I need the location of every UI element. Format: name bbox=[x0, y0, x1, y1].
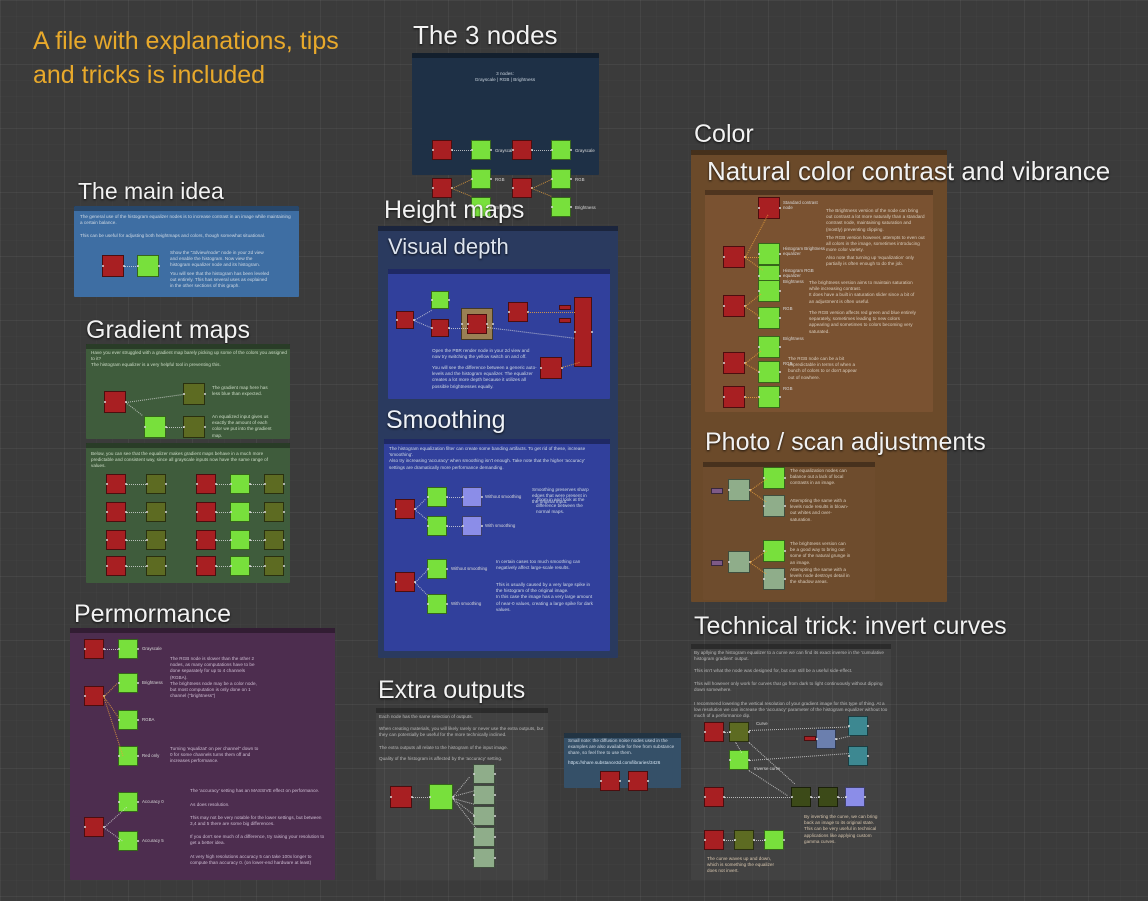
node-eq-2[interactable] bbox=[764, 830, 784, 850]
node-grayscale[interactable] bbox=[471, 140, 491, 160]
frame-bar bbox=[412, 53, 599, 58]
node-brightness[interactable] bbox=[118, 673, 138, 693]
invert-note-6: The curve waves up and down, which is so… bbox=[707, 856, 777, 875]
frame-bar bbox=[388, 269, 610, 274]
sidenote-url[interactable]: https://share.substance3d.com/libraries/… bbox=[568, 760, 680, 766]
node-label-rgb: RGB bbox=[783, 306, 793, 311]
node-label-with-smoothing: With smoothing bbox=[451, 601, 481, 606]
frame-gradient-grid: Below, you can see that the equalizer ma… bbox=[86, 443, 290, 583]
node-pbr-render[interactable] bbox=[574, 297, 592, 367]
node-output[interactable] bbox=[473, 806, 495, 826]
frame-invert-curves: By apllying the histogram equalizer to a… bbox=[691, 644, 891, 880]
node-gradient[interactable] bbox=[146, 530, 166, 550]
node-eq-a[interactable] bbox=[427, 487, 447, 507]
invert-note-2: This isn't what the node was designed fo… bbox=[694, 668, 889, 674]
node-pbr-b[interactable] bbox=[540, 357, 562, 379]
frame-title-color: Color bbox=[694, 120, 754, 149]
wire bbox=[412, 797, 430, 798]
frame-title-three-nodes: The 3 nodes bbox=[413, 20, 558, 51]
wire bbox=[745, 397, 759, 398]
node-gradient[interactable] bbox=[264, 556, 284, 576]
frame-bar bbox=[384, 439, 610, 444]
color-note-4: The brightness version aims to maintain … bbox=[809, 280, 919, 305]
node-input-red[interactable] bbox=[395, 499, 415, 519]
node-label-brightness: Brightness bbox=[575, 205, 596, 210]
node-grayscale[interactable] bbox=[118, 639, 138, 659]
node-label-grayscale: Grayscale bbox=[142, 646, 162, 651]
node-input-red[interactable] bbox=[106, 474, 126, 494]
frame-extra-outputs: Each node has the same selection of outp… bbox=[376, 708, 548, 880]
color-note-2: The RGB version however, attempts to eve… bbox=[826, 235, 926, 254]
node-output[interactable] bbox=[473, 848, 495, 868]
node-input-red[interactable] bbox=[704, 722, 724, 742]
wire bbox=[748, 770, 787, 796]
node-small-red[interactable] bbox=[804, 736, 816, 741]
gradient-note-4: Below, you can see that the equalizer ma… bbox=[91, 451, 279, 470]
wire bbox=[745, 363, 759, 372]
frame-title-extra-outputs: Extra outputs bbox=[378, 676, 525, 705]
wire bbox=[250, 484, 264, 485]
wire bbox=[447, 526, 462, 527]
node-auto-levels[interactable] bbox=[431, 319, 449, 337]
node-eq-c[interactable] bbox=[427, 559, 447, 579]
node-input-red[interactable] bbox=[390, 786, 412, 808]
node-dark-1[interactable] bbox=[791, 787, 811, 807]
node-blend[interactable] bbox=[816, 729, 836, 749]
visual-depth-note-2: You will see the difference between a ge… bbox=[432, 365, 537, 390]
extra-note-4: Quality of the histogram is affected by … bbox=[379, 756, 544, 762]
node-output[interactable] bbox=[473, 764, 495, 784]
node-input-red[interactable] bbox=[723, 295, 745, 317]
node-input-red[interactable] bbox=[432, 178, 452, 198]
node-equalizer[interactable] bbox=[431, 291, 449, 309]
page-headline: A file with explanations, tips and trick… bbox=[33, 24, 373, 92]
extra-note-3: The extra outputs all relate to the hist… bbox=[379, 745, 544, 751]
node-rgb[interactable] bbox=[471, 169, 491, 189]
node-gradient-out[interactable] bbox=[183, 383, 205, 405]
wire bbox=[414, 320, 432, 328]
wire bbox=[415, 570, 428, 583]
photo-note-1: The equalization nodes can balance out a… bbox=[790, 468, 852, 487]
node-label-red-only: Red only bbox=[142, 753, 159, 758]
visual-depth-note-1: Open the PBR render node in your 2d view… bbox=[432, 348, 537, 360]
node-label-without-smoothing: Without smoothing bbox=[485, 494, 521, 499]
node-input-red[interactable] bbox=[84, 686, 104, 706]
wire bbox=[724, 797, 792, 798]
node-dark-2[interactable] bbox=[818, 787, 838, 807]
node-equalize-1[interactable] bbox=[728, 479, 750, 501]
wire bbox=[216, 512, 230, 513]
main-idea-note-2: This can be useful for adjusting both he… bbox=[80, 233, 293, 239]
node-rgb[interactable] bbox=[758, 307, 780, 329]
color-note-5: The RGB version affects red green and bl… bbox=[809, 310, 919, 335]
node-input-red[interactable] bbox=[704, 830, 724, 850]
frame-bar bbox=[70, 628, 335, 633]
node-equalizer[interactable] bbox=[144, 416, 166, 438]
wire bbox=[724, 732, 730, 733]
wire bbox=[126, 484, 146, 485]
node-out-teal-2[interactable] bbox=[848, 746, 868, 766]
node-result-levels-1[interactable] bbox=[763, 495, 785, 517]
node-output[interactable] bbox=[473, 785, 495, 805]
node-label-rgb: RGB bbox=[495, 177, 505, 182]
node-equalizer[interactable] bbox=[230, 530, 250, 550]
node-brightness[interactable] bbox=[758, 336, 780, 358]
node-equalizer[interactable] bbox=[230, 502, 250, 522]
wire bbox=[836, 736, 850, 740]
wire bbox=[126, 540, 146, 541]
node-input-red[interactable] bbox=[106, 556, 126, 576]
node-label-standard-contrast: Standard contrast node bbox=[783, 200, 821, 210]
node-rgb[interactable] bbox=[551, 169, 571, 189]
node-equalizer[interactable] bbox=[230, 556, 250, 576]
node-label-hist-rgb-eq: Histogram RGB equalizer bbox=[783, 268, 825, 278]
frame-title-gradient-maps: Gradient maps bbox=[86, 316, 250, 345]
wire bbox=[124, 266, 138, 267]
frame-natural-color: Standard contrast node Histogram Brightn… bbox=[705, 190, 933, 412]
perf-note-4: As does resolution. bbox=[190, 802, 325, 808]
wire bbox=[754, 840, 765, 841]
node-label-hist-brightness-eq: Histogram Brightness equalizer bbox=[783, 246, 825, 256]
wire bbox=[216, 566, 230, 567]
wire bbox=[528, 312, 575, 313]
wire bbox=[414, 509, 428, 521]
frame-height-maps: Visual depth Open the PBR render node in… bbox=[378, 226, 618, 658]
node-input-red[interactable] bbox=[704, 787, 724, 807]
node-input-red[interactable] bbox=[432, 140, 452, 160]
node-output[interactable] bbox=[473, 827, 495, 847]
frame-extra-sidenote: Small note: the diffusion noise nodes us… bbox=[564, 733, 681, 788]
node-gradient[interactable] bbox=[146, 556, 166, 576]
wire bbox=[166, 427, 184, 428]
wire bbox=[125, 402, 142, 416]
frame-title-invert-curves: Technical trick: invert curves bbox=[694, 612, 1007, 641]
node-input-red[interactable] bbox=[196, 474, 216, 494]
node-label-brightness: Brightness bbox=[783, 279, 804, 284]
perf-note-2: Turning 'equalizat' on per channel" down… bbox=[170, 746, 260, 765]
node-photo-input-2[interactable] bbox=[711, 560, 723, 566]
gradient-note-1: Have you ever struggled with a gradient … bbox=[91, 350, 287, 369]
wire bbox=[532, 179, 551, 189]
node-noise-a[interactable] bbox=[600, 771, 620, 791]
node-equalize-2[interactable] bbox=[728, 551, 750, 573]
wire bbox=[414, 582, 429, 597]
wire bbox=[216, 484, 230, 485]
node-gradient-out-2[interactable] bbox=[183, 416, 205, 438]
frame-bar bbox=[691, 644, 891, 649]
frame-visual-depth: Open the PBR render node in your 2d view… bbox=[388, 269, 610, 399]
node-input-red[interactable] bbox=[84, 817, 104, 837]
node-gradient[interactable] bbox=[146, 474, 166, 494]
node-inverse-curve[interactable] bbox=[729, 750, 749, 770]
node-input-red[interactable] bbox=[104, 391, 126, 413]
frame-bar bbox=[705, 190, 933, 195]
smoothing-note-1: The histogram equalization filter can cr… bbox=[389, 446, 599, 471]
frame-gradient-maps: Have you ever struggled with a gradient … bbox=[86, 344, 290, 439]
smoothing-note-5: This is usually caused by a very large s… bbox=[496, 582, 596, 613]
wire bbox=[126, 566, 146, 567]
gradient-note-2: The gradient map here has less blue than… bbox=[212, 385, 272, 397]
frame-bar bbox=[74, 206, 299, 211]
node-label-accuracy-0: Accuracy 0 bbox=[142, 799, 164, 804]
frame-smoothing: The histogram equalization filter can cr… bbox=[384, 439, 610, 651]
three-nodes-caption: 3 nodes: Grayscale | RGB | Brightness bbox=[440, 71, 570, 83]
node-accuracy-0[interactable] bbox=[118, 792, 138, 812]
node-gradient[interactable] bbox=[264, 502, 284, 522]
wire bbox=[724, 840, 735, 841]
frame-main-idea: The general use of the histogram equaliz… bbox=[74, 206, 299, 297]
frame-bar bbox=[86, 443, 290, 448]
frame-photo-scan: The equalization nodes can balance out a… bbox=[703, 462, 875, 600]
node-equalizer[interactable] bbox=[429, 784, 453, 810]
wire bbox=[216, 540, 230, 541]
node-noise-b[interactable] bbox=[628, 771, 648, 791]
wire bbox=[104, 683, 117, 696]
node-label-rgba: RGBA bbox=[142, 717, 154, 722]
frame-three-nodes: 3 nodes: Grayscale | RGB | Brightness Gr… bbox=[412, 53, 599, 175]
node-normal-out[interactable] bbox=[845, 787, 865, 807]
node-label-accuracy-5: Accuracy 5 bbox=[142, 838, 164, 843]
wire bbox=[104, 807, 127, 828]
node-switch[interactable] bbox=[467, 314, 487, 334]
node-input-red[interactable] bbox=[512, 140, 532, 160]
node-hist-brightness-eq[interactable] bbox=[758, 243, 780, 265]
node-rgb[interactable] bbox=[758, 361, 780, 383]
node-brightness[interactable] bbox=[551, 197, 571, 217]
wire bbox=[250, 512, 264, 513]
perf-note-7: At very high resolutions accuracy 5 can … bbox=[190, 854, 325, 866]
main-idea-note-1: The general use of the histogram equaliz… bbox=[80, 214, 293, 226]
wire bbox=[532, 150, 551, 151]
node-label-rgb: RGB bbox=[575, 177, 585, 182]
node-pbr-a[interactable] bbox=[508, 302, 528, 322]
node-equalizer[interactable] bbox=[230, 474, 250, 494]
wire bbox=[487, 327, 574, 339]
perf-note-5: This may not be very notable for the low… bbox=[190, 815, 325, 827]
main-idea-note-4: You will see that the histogram has been… bbox=[170, 271, 270, 290]
photo-note-2: Attempting the same with a levels node r… bbox=[790, 498, 852, 523]
frame-bar bbox=[376, 708, 548, 713]
smoothing-note-3: Smoothing preserves sharp edges that wer… bbox=[532, 487, 594, 506]
frame-title-permormance: Permormance bbox=[74, 600, 231, 629]
gradient-note-3: An equalized input gives us exactly the … bbox=[212, 414, 272, 439]
node-gradient[interactable] bbox=[264, 474, 284, 494]
photo-note-3: The brightness version can be a good way… bbox=[790, 541, 852, 566]
wire bbox=[452, 150, 471, 151]
frame-bar bbox=[703, 462, 875, 467]
wire bbox=[250, 566, 264, 567]
node-input-red[interactable] bbox=[84, 639, 104, 659]
node-eq-d[interactable] bbox=[427, 594, 447, 614]
wire bbox=[748, 742, 795, 784]
smoothing-note-4: In certain cases too much smoothing can … bbox=[496, 559, 596, 571]
wire bbox=[811, 797, 819, 798]
node-equalizer[interactable] bbox=[137, 255, 159, 277]
node-pbr-out-2[interactable] bbox=[559, 318, 571, 323]
main-idea-note-3: Show the "3dview/node" node in your 2d v… bbox=[170, 250, 270, 269]
node-input-red[interactable] bbox=[395, 572, 415, 592]
color-note-6: The RGB node can be a bit unpredictable … bbox=[788, 356, 863, 381]
wire bbox=[414, 310, 432, 321]
wire bbox=[447, 497, 462, 498]
node-standard-contrast[interactable] bbox=[758, 197, 780, 219]
node-label-with-smoothing: With smoothing bbox=[485, 523, 515, 528]
frame-color: Natural color contrast and vibrance Stan… bbox=[691, 150, 947, 602]
photo-note-4: Attempting the same with a levels node d… bbox=[790, 567, 852, 586]
node-input-red[interactable] bbox=[106, 502, 126, 522]
node-gradient[interactable] bbox=[146, 502, 166, 522]
wire bbox=[452, 179, 471, 189]
wire bbox=[104, 649, 118, 650]
node-pbr-out-1[interactable] bbox=[559, 305, 571, 310]
node-eq-b[interactable] bbox=[427, 516, 447, 536]
node-label-without-smoothing: Without smoothing bbox=[451, 566, 487, 571]
color-note-1: The Brightness version of the node can b… bbox=[826, 208, 926, 233]
perf-note-6: If you don't see much of a difference, t… bbox=[190, 834, 325, 846]
node-input-red[interactable] bbox=[196, 530, 216, 550]
node-result-levels-2[interactable] bbox=[763, 568, 785, 590]
node-label-brightness: Brightness bbox=[142, 680, 163, 685]
wire bbox=[415, 499, 426, 510]
node-input-red[interactable] bbox=[723, 352, 745, 374]
wire bbox=[532, 188, 552, 197]
color-note-3: Also note that turning up 'equalization'… bbox=[826, 255, 926, 267]
invert-note-1: By apllying the histogram equalizer to a… bbox=[694, 650, 889, 662]
node-input-red[interactable] bbox=[196, 556, 216, 576]
frame-permormance: Grayscale Brightness RGBA Red only The R… bbox=[70, 628, 335, 880]
invert-note-5: By inverting the curve, we can bring bac… bbox=[804, 814, 884, 845]
node-rgb[interactable] bbox=[758, 386, 780, 408]
node-input-red[interactable] bbox=[106, 530, 126, 550]
wire bbox=[126, 394, 185, 403]
frame-title-photo-scan: Photo / scan adjustments bbox=[705, 428, 986, 457]
extra-note-2: When creating materials, you will likely… bbox=[379, 726, 544, 738]
frame-title-visual-depth: Visual depth bbox=[388, 234, 509, 260]
node-input-red[interactable] bbox=[723, 246, 745, 268]
wire bbox=[449, 328, 468, 329]
node-photo-input-1[interactable] bbox=[711, 488, 723, 494]
frame-title-smoothing: Smoothing bbox=[386, 406, 506, 435]
node-label-grayscale: Grayscale bbox=[575, 148, 595, 153]
frame-title-natural-color: Natural color contrast and vibrance bbox=[707, 156, 1110, 187]
node-label-rgb: RGB bbox=[783, 386, 793, 391]
node-input-red[interactable] bbox=[396, 311, 414, 329]
wire bbox=[838, 797, 846, 798]
frame-bar bbox=[691, 150, 947, 155]
node-out-teal-1[interactable] bbox=[848, 716, 868, 736]
node-input-red[interactable] bbox=[723, 386, 745, 408]
perf-note-3: The 'accuracy' setting has an MASSIVE ef… bbox=[190, 788, 325, 794]
node-curve[interactable] bbox=[729, 722, 749, 742]
node-rgba[interactable] bbox=[118, 710, 138, 730]
frame-title-height-maps: Height maps bbox=[384, 196, 524, 225]
wire bbox=[250, 540, 264, 541]
node-normal-b[interactable] bbox=[462, 516, 482, 536]
node-input-red[interactable] bbox=[196, 502, 216, 522]
node-grayscale[interactable] bbox=[551, 140, 571, 160]
wire bbox=[126, 512, 146, 513]
invert-note-3: This will however only work for curves t… bbox=[694, 681, 889, 693]
node-brightness[interactable] bbox=[758, 280, 780, 302]
node-input-red[interactable] bbox=[102, 255, 124, 277]
frame-bar bbox=[86, 344, 290, 349]
node-gradient[interactable] bbox=[264, 530, 284, 550]
perf-note-1: The RGB node is slower than the other 2 … bbox=[170, 656, 260, 699]
node-label-curve: Curve bbox=[756, 721, 768, 726]
extra-note-1: Each node has the same selection of outp… bbox=[379, 714, 544, 720]
frame-title-main-idea: The main idea bbox=[78, 178, 224, 205]
node-input-red[interactable] bbox=[512, 178, 532, 198]
node-normal-a[interactable] bbox=[462, 487, 482, 507]
node-curve-2[interactable] bbox=[734, 830, 754, 850]
node-label-brightness: Brightness bbox=[783, 336, 804, 341]
sidenote-text: Small note: the diffusion noise nodes us… bbox=[568, 738, 678, 757]
frame-bar bbox=[378, 226, 618, 231]
